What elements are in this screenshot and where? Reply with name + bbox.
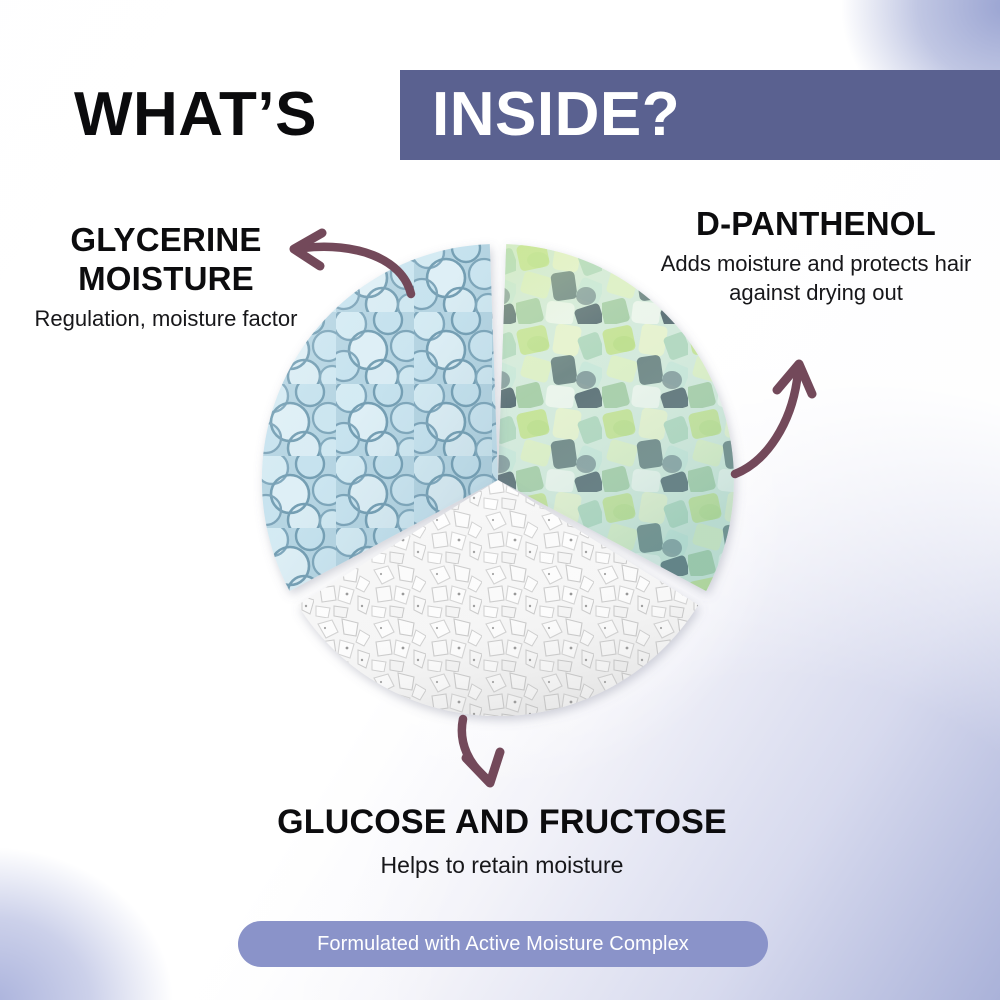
ingredient-pie-chart <box>258 240 738 720</box>
callout-glycerine-title: GLYCERINE MOISTURE <box>16 220 316 298</box>
callout-glucose: GLUCOSE AND FRUCTOSE Helps to retain moi… <box>190 803 814 880</box>
callout-glucose-title: GLUCOSE AND FRUCTOSE <box>190 803 814 842</box>
arrow-curved-down-icon <box>462 719 500 783</box>
callout-panthenol-title: D-PANTHENOL <box>648 204 984 243</box>
arrow-curved-up-right-icon <box>735 364 812 474</box>
formulation-badge: Formulated with Active Moisture Complex <box>238 921 768 967</box>
callout-glucose-description: Helps to retain moisture <box>190 851 814 880</box>
callout-panthenol-description: Adds moisture and protects hair against … <box>648 249 984 307</box>
formulation-badge-label: Formulated with Active Moisture Complex <box>317 933 689 956</box>
page-title-part-two: INSIDE? <box>432 72 680 158</box>
callout-glycerine-description: Regulation, moisture factor <box>16 304 316 333</box>
callout-glycerine: GLYCERINE MOISTURE Regulation, moisture … <box>16 220 316 333</box>
callout-panthenol: D-PANTHENOL Adds moisture and protects h… <box>648 204 984 307</box>
page-title-part-one: WHAT’S <box>74 72 317 158</box>
infographic-canvas: WHAT’S INSIDE? <box>0 0 1000 1000</box>
